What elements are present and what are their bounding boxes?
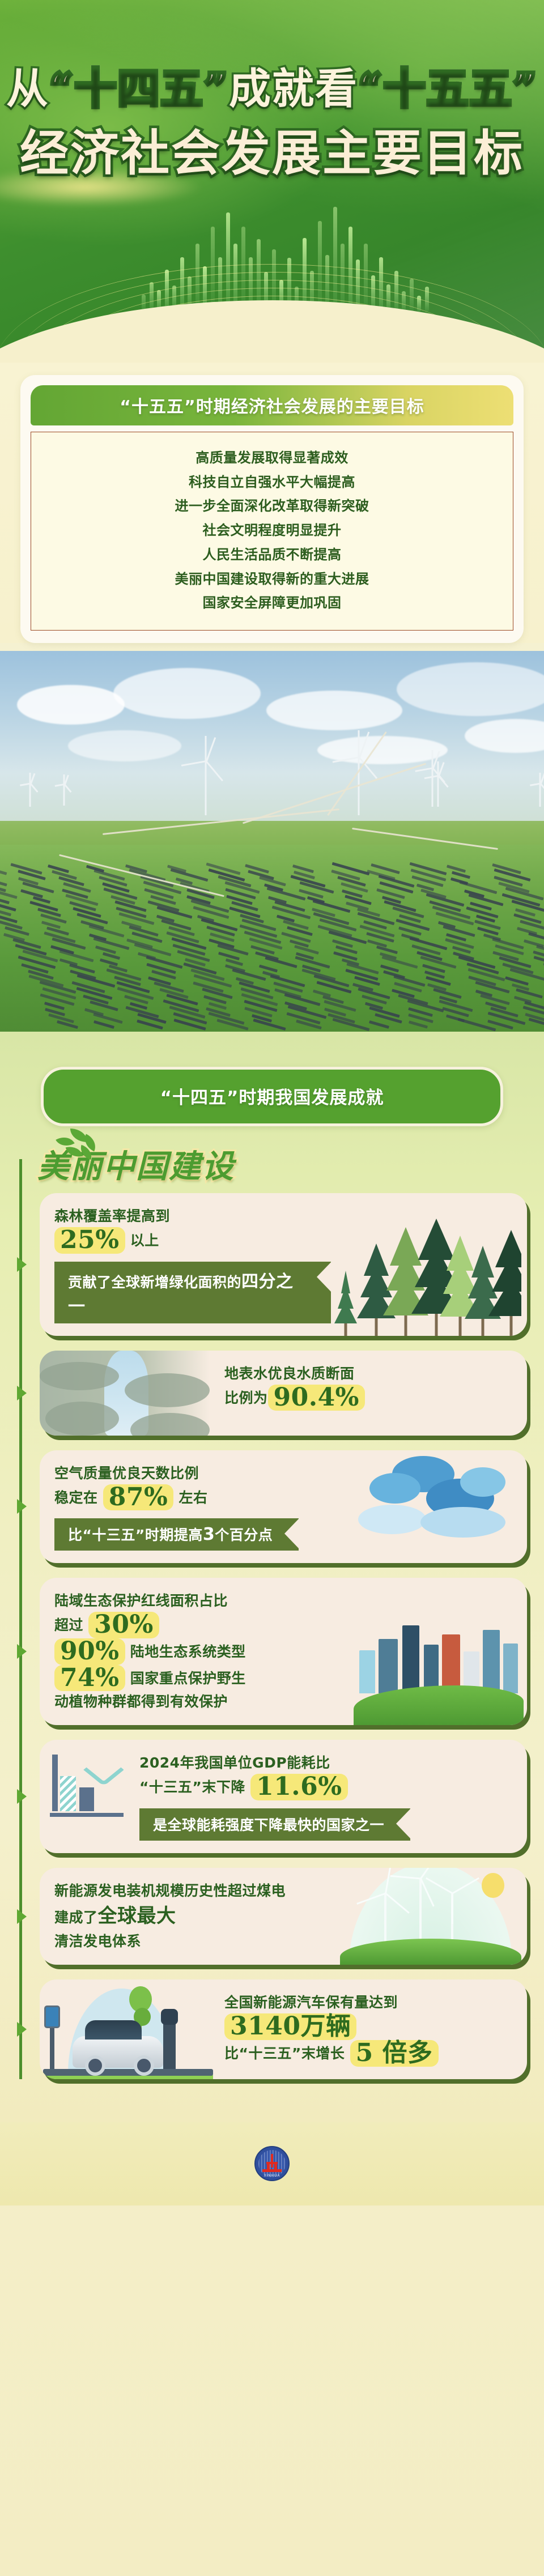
stat-plain-text: 左右 xyxy=(173,1489,207,1506)
building-shape xyxy=(483,1630,500,1693)
stat-text-line: 空气质量优良天数比例 xyxy=(54,1463,342,1484)
forest-illustration xyxy=(329,1206,521,1336)
card-chevron-marker xyxy=(17,2022,27,2037)
goals-card: “十五五”时期经济社会发展的主要目标 高质量发展取得显著成效科技自立自强水平大幅… xyxy=(20,375,524,643)
stat-card-ecological-redline[interactable]: 陆域生态保护红线面积占比超过 30%90% 陆地生态系统类型74% 国家重点保护… xyxy=(40,1578,527,1725)
bar-chart-illustration xyxy=(50,1749,124,1817)
hero-title-line-2: 经济社会发展主要目标 xyxy=(0,129,544,178)
stat-plain-text: 新能源发电装机规模历史性超过煤电 xyxy=(54,1883,286,1899)
banner-prefix-text: 是全球能耗强度下降最快的国家之一 xyxy=(153,1817,384,1833)
stat-highlight-value: 11.6% xyxy=(250,1774,347,1800)
infographic-page: 从“十四五”成就看“十五五” 经济社会发展主要目标 “十五五”时期经济社会发展的… xyxy=(0,0,544,2576)
achievements-header-text: “十四五”时期我国发展成就 xyxy=(160,1088,384,1108)
chart-bar-hatched xyxy=(60,1776,76,1811)
stat-text-line: 森林覆盖率提高到 xyxy=(54,1206,331,1227)
field-path xyxy=(103,808,339,835)
stat-plain-text: 空气质量优良天数比例 xyxy=(54,1465,199,1481)
goals-section: “十五五”时期经济社会发展的主要目标 高质量发展取得显著成效科技自立自强水平大幅… xyxy=(0,363,544,643)
stat-text-line: 90% 陆地生态系统类型 xyxy=(54,1638,348,1665)
stat-plain-text: 陆地生态系统类型 xyxy=(125,1643,246,1660)
stat-plain-text: 清洁发电体系 xyxy=(54,1933,141,1949)
goals-list: 高质量发展取得显著成效科技自立自强水平大幅提高进一步全面深化改革取得新突破社会文… xyxy=(31,432,513,631)
brush-title-wrap: 美丽中国建设 xyxy=(0,1126,544,1193)
stat-text-line: 清洁发电体系 xyxy=(54,1931,342,1952)
stat-plain-text: 森林覆盖率提高到 xyxy=(54,1208,170,1224)
page-footer: XINHUA xyxy=(0,2122,544,2205)
goal-item: 高质量发展取得显著成效 xyxy=(42,446,501,470)
stat-card-gdp-energy-intensity[interactable]: 2024年我国单位GDP能耗比“十三五”末下降 11.6%是全球能耗强度下降最快… xyxy=(40,1740,527,1853)
stat-highlight-value: 5 倍多 xyxy=(350,2040,439,2067)
stat-plain-text: 全国新能源汽车保有量达到 xyxy=(224,1994,398,2011)
cloud-shape xyxy=(369,1473,420,1504)
stat-highlight-value: 3140万辆 xyxy=(224,2013,356,2040)
stat-card-new-energy-capacity[interactable]: 新能源发电装机规模历史性超过煤电建成了全球最大清洁发电体系 xyxy=(40,1868,527,1965)
xinhua-logo-icon: XINHUA xyxy=(254,2146,290,2181)
tree-icon xyxy=(334,1268,357,1336)
achievements-header-wrap: “十四五”时期我国发展成就 xyxy=(0,1032,544,1126)
stat-plain-text: 动植物种群都得到有效保护 xyxy=(54,1693,228,1710)
stat-text-line: 稳定在 87% 左右 xyxy=(54,1484,342,1511)
info-screen xyxy=(44,2006,60,2028)
hero-title-block: 从“十四五”成就看“十五五” 经济社会发展主要目标 xyxy=(0,68,544,178)
leaf-icon xyxy=(66,1144,83,1160)
card-chevron-marker xyxy=(17,1386,27,1400)
stat-text-line: 建成了全球最大 xyxy=(54,1902,342,1931)
stat-plain-text: 地表水优良水质断面 xyxy=(224,1365,355,1382)
stat-banner: 比“十三五”时期提高3个百分点 xyxy=(54,1518,299,1551)
stat-text-line: 比例为90.4% xyxy=(224,1385,512,1411)
banner-prefix-text: 比“十三五”时期提高 xyxy=(68,1527,203,1543)
river-bank xyxy=(40,1362,119,1390)
stat-text-line: 3140万辆 xyxy=(224,2013,512,2040)
card-chevron-marker xyxy=(17,1644,27,1659)
stat-text-line: 地表水优良水质断面 xyxy=(224,1363,512,1385)
stat-highlight-value: 87% xyxy=(103,1484,174,1511)
stat-banner: 是全球能耗强度下降最快的国家之一 xyxy=(139,1808,410,1841)
stat-text-line: 2024年我国单位GDP能耗比 xyxy=(139,1752,512,1774)
sun-icon xyxy=(482,1873,504,1898)
stat-highlight-value: 25% xyxy=(54,1227,125,1254)
field-path xyxy=(327,731,387,816)
stat-card-surface-water-quality[interactable]: 地表水优良水质断面比例为90.4% xyxy=(40,1351,527,1436)
field-path xyxy=(59,854,224,897)
stat-highlight-value: 90% xyxy=(54,1638,125,1665)
logo-tower-mark xyxy=(265,2154,279,2174)
building-shape xyxy=(359,1650,375,1693)
goal-item: 美丽中国建设取得新的重大进展 xyxy=(42,567,501,591)
achievements-section: “十四五”时期我国发展成就 美丽中国建设 森林覆盖率提高到25% 以上贡献了全球… xyxy=(0,1032,544,2122)
card-chevron-marker xyxy=(17,1789,27,1804)
landscape-photo xyxy=(0,651,544,1032)
building-shape xyxy=(379,1639,398,1693)
building-shape xyxy=(442,1634,460,1693)
tree-icon xyxy=(488,1225,521,1336)
logo-wordmark: XINHUA xyxy=(256,2174,288,2178)
arrow-down-icon xyxy=(83,1753,124,1786)
stat-text-line: 25% 以上 xyxy=(54,1227,331,1254)
goal-item: 人民生活品质不断提高 xyxy=(42,543,501,567)
banner-strong-text: 3 xyxy=(203,1525,215,1544)
goal-item: 进一步全面深化改革取得新突破 xyxy=(42,494,501,518)
ground-platform xyxy=(43,2069,213,2076)
stat-text-line: 全国新能源汽车保有量达到 xyxy=(224,1992,512,2013)
hero-title-prefix: 从 xyxy=(6,65,49,113)
building-shape xyxy=(503,1643,518,1693)
stat-highlight-value: 30% xyxy=(88,1612,159,1638)
goal-item: 国家安全屏障更加巩固 xyxy=(42,591,501,615)
stat-text-line: 比“十三五”末增长 5 倍多 xyxy=(224,2040,512,2067)
goals-card-header: “十五五”时期经济社会发展的主要目标 xyxy=(31,385,513,425)
card-chevron-marker xyxy=(17,1499,27,1514)
timeline-rail xyxy=(19,1159,22,2079)
stat-plain-text: 陆域生态保护红线面积占比 xyxy=(54,1593,228,1609)
chart-bar-short xyxy=(79,1787,94,1811)
stat-text-line: 74% 国家重点保护野生 xyxy=(54,1665,348,1692)
river-illustration xyxy=(40,1351,210,1436)
stat-plain-text: “十三五”末下降 xyxy=(139,1779,250,1795)
hero-title-middle: 成就看 xyxy=(229,65,358,113)
cloud-shape xyxy=(460,1467,505,1497)
city-illustration xyxy=(354,1617,524,1725)
stat-card-air-quality-days[interactable]: 空气质量优良天数比例稳定在 87% 左右比“十三五”时期提高3个百分点 xyxy=(40,1450,527,1564)
goal-item: 社会文明程度明显提升 xyxy=(42,518,501,543)
turbine-blade xyxy=(452,1893,453,1924)
stat-text-line: 超过 30% xyxy=(54,1612,348,1638)
field-path xyxy=(352,828,498,850)
ev-charging-illustration xyxy=(43,1984,213,2079)
stat-plain-text: 比例为 xyxy=(224,1390,268,1406)
river-bank xyxy=(45,1402,119,1436)
card-chevron-marker xyxy=(17,1909,27,1924)
river-bank xyxy=(125,1373,210,1407)
clean-energy-illustration xyxy=(340,1868,521,1965)
stat-cards-list: 森林覆盖率提高到25% 以上贡献了全球新增绿化面积的四分之一地表水优良水质断面比… xyxy=(0,1193,544,2079)
stat-highlight-value: 74% xyxy=(54,1665,125,1692)
stat-text-line: 新能源发电装机规模历史性超过煤电 xyxy=(54,1880,342,1902)
stat-plain-text: 比“十三五”末增长 xyxy=(224,2045,350,2062)
cloud-shape xyxy=(420,1507,505,1538)
chart-axis xyxy=(50,1813,124,1817)
car-roof xyxy=(85,2020,142,2039)
hero-banner: 从“十四五”成就看“十五五” 经济社会发展主要目标 xyxy=(0,0,544,363)
card-chevron-marker xyxy=(17,1257,27,1272)
goal-item: 科技自立自强水平大幅提高 xyxy=(42,470,501,495)
stat-emphasis-text: 全球最大 xyxy=(98,1905,176,1927)
cloud-illustration xyxy=(352,1453,522,1543)
stat-banner: 贡献了全球新增绿化面积的四分之一 xyxy=(54,1262,331,1323)
achievements-header: “十四五”时期我国发展成就 xyxy=(41,1067,503,1126)
stat-text-line: “十三五”末下降 11.6% xyxy=(139,1774,512,1800)
field-path xyxy=(243,763,426,824)
hero-title-line-1: 从“十四五”成就看“十五五” xyxy=(0,68,544,110)
charging-head xyxy=(161,2009,178,2025)
stat-card-forest-coverage[interactable]: 森林覆盖率提高到25% 以上贡献了全球新增绿化面积的四分之一 xyxy=(40,1193,527,1336)
stat-plain-text: 稳定在 xyxy=(54,1489,103,1506)
sprout-icon xyxy=(54,1129,103,1165)
stat-highlight-value: 90.4% xyxy=(268,1385,365,1411)
hero-title-quote-2: “十五五” xyxy=(358,65,538,113)
hero-title-quote-1: “十四五” xyxy=(49,65,229,113)
stat-text-line: 动植物种群都得到有效保护 xyxy=(54,1691,348,1713)
cloud-shape xyxy=(358,1505,426,1534)
info-pole xyxy=(50,2021,54,2069)
stat-plain-text: 超过 xyxy=(54,1617,88,1633)
goals-header-text: “十五五”时期经济社会发展的主要目标 xyxy=(120,397,424,417)
stat-card-new-energy-vehicles[interactable]: 全国新能源汽车保有量达到3140万辆比“十三五”末增长 5 倍多 xyxy=(40,1979,527,2079)
chart-bar-tall xyxy=(52,1755,58,1811)
stat-plain-text: 2024年我国单位GDP能耗比 xyxy=(139,1755,330,1771)
banner-suffix-text: 个百分点 xyxy=(215,1527,273,1543)
stat-plain-text: 国家重点保护野生 xyxy=(125,1670,246,1687)
stat-plain-text: 以上 xyxy=(125,1232,159,1249)
stat-text-line: 陆域生态保护红线面积占比 xyxy=(54,1590,348,1612)
banner-prefix-text: 贡献了全球新增绿化面积的 xyxy=(68,1274,241,1291)
building-shape xyxy=(402,1625,419,1693)
stat-plain-text: 建成了 xyxy=(54,1909,98,1926)
photo-paths xyxy=(0,651,544,1032)
